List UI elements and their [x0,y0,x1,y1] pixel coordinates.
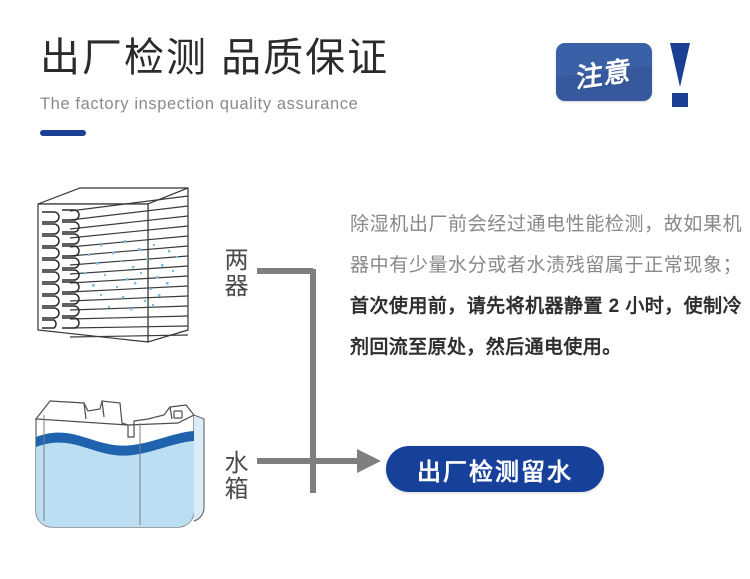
cta-pill-label: 出厂检测留水 [417,452,573,487]
page-subtitle: The factory inspection quality assurance [40,92,510,116]
exclamation-mark-icon [669,43,691,105]
water-tank-illustration [28,393,214,541]
arrow-head-icon [357,449,381,473]
exclamation-bar [670,43,690,87]
tank-label: 水箱 [219,450,248,502]
coil-label: 两器 [219,247,248,299]
attention-badge-group: 注意 [556,43,691,105]
heat-exchanger-illustration [28,182,190,348]
title-underline-accent [40,130,86,136]
exclamation-dot [672,93,688,107]
page-title: 出厂检测 品质保证 [40,32,510,84]
body-text-emphasis: 首次使用前，请先将机器静置 2 小时，使制冷剂回流至原处，然后通电使用。 [350,296,742,358]
attention-badge: 注意 [556,43,652,101]
factory-test-residual-water-badge[interactable]: 出厂检测留水 [386,446,604,492]
body-text-normal: 除湿机出厂前会经过通电性能检测，故如果机器中有少量水分或者水渍残留属于正常现象； [350,214,742,276]
attention-badge-label: 注意 [556,46,652,99]
tank-water-fill [36,431,194,533]
body-paragraph: 除湿机出厂前会经过通电性能检测，故如果机器中有少量水分或者水渍残留属于正常现象；… [350,204,742,368]
page-header: 出厂检测 品质保证 The factory inspection quality… [40,32,510,136]
